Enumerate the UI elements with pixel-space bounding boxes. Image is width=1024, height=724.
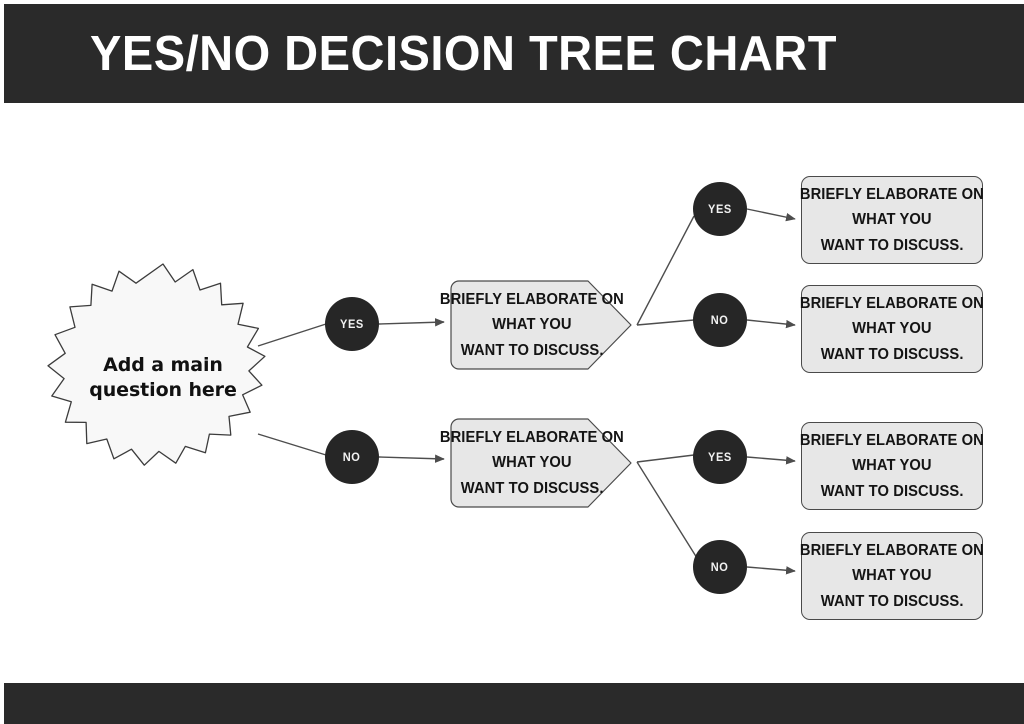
decision-circle-no-yes[interactable]: YES	[693, 430, 747, 484]
decision-circle-label: NO	[711, 313, 729, 327]
outcome-box-yes-yes[interactable]: BRIEFLY ELABORATE ON WHAT YOU WANT TO DI…	[801, 176, 983, 264]
decision-circle-no-no[interactable]: NO	[693, 540, 747, 594]
edge-boxtop-to-no	[637, 320, 694, 325]
decision-circle-yes-yes[interactable]: YES	[693, 182, 747, 236]
decision-circle-yes-no[interactable]: NO	[693, 293, 747, 347]
arrow-box-yes-branch[interactable]: BRIEFLY ELABORATE ON WHAT YOU WANT TO DI…	[450, 280, 632, 370]
box-line-3: WANT TO DISCUSS.	[461, 338, 604, 363]
box-line-2: WHAT YOU	[852, 453, 932, 478]
outcome-box-no-yes[interactable]: BRIEFLY ELABORATE ON WHAT YOU WANT TO DI…	[801, 422, 983, 510]
edge-boxtop-to-yes	[637, 216, 694, 325]
decision-circle-no-level1[interactable]: NO	[325, 430, 379, 484]
box-line-1: BRIEFLY ELABORATE ON	[800, 291, 984, 316]
decision-circle-label: YES	[708, 450, 732, 464]
box-line-2: WHAT YOU	[852, 316, 932, 341]
box-line-2: WHAT YOU	[492, 450, 572, 475]
box-line-3: WANT TO DISCUSS.	[821, 479, 964, 504]
edge-l2nono-to-box	[747, 567, 795, 571]
decision-circle-label: YES	[708, 202, 732, 216]
edge-l2yesno-to-box	[747, 320, 795, 325]
root-question-label: Add a main question here	[45, 260, 281, 496]
edge-no-to-box-bottom	[379, 457, 444, 459]
box-line-2: WHAT YOU	[492, 312, 572, 337]
box-line-3: WANT TO DISCUSS.	[821, 589, 964, 614]
decision-circle-yes-level1[interactable]: YES	[325, 297, 379, 351]
root-label-line1: Add a main	[103, 354, 223, 376]
box-line-1: BRIEFLY ELABORATE ON	[800, 428, 984, 453]
box-line-1: BRIEFLY ELABORATE ON	[440, 425, 624, 450]
box-line-2: WHAT YOU	[852, 563, 932, 588]
root-label-line2: question here	[89, 379, 236, 401]
edge-yes-to-box-top	[379, 322, 444, 324]
arrow-box-no-branch[interactable]: BRIEFLY ELABORATE ON WHAT YOU WANT TO DI…	[450, 418, 632, 508]
edge-l2noyes-to-box	[747, 457, 795, 461]
decision-circle-label: YES	[340, 317, 364, 331]
decision-tree-chart-canvas: YES/NO DECISION TREE CHART	[0, 0, 1024, 724]
root-question-node[interactable]: Add a main question here	[45, 260, 281, 496]
decision-circle-label: NO	[343, 450, 361, 464]
box-line-1: BRIEFLY ELABORATE ON	[800, 538, 984, 563]
arrow-box-text: BRIEFLY ELABORATE ON WHAT YOU WANT TO DI…	[456, 280, 608, 370]
header-band: YES/NO DECISION TREE CHART	[4, 4, 1024, 103]
outcome-box-no-no[interactable]: BRIEFLY ELABORATE ON WHAT YOU WANT TO DI…	[801, 532, 983, 620]
box-line-3: WANT TO DISCUSS.	[461, 476, 604, 501]
page-title: YES/NO DECISION TREE CHART	[90, 26, 837, 82]
box-line-2: WHAT YOU	[852, 207, 932, 232]
edge-boxbottom-to-yes	[637, 455, 694, 462]
outcome-box-yes-no[interactable]: BRIEFLY ELABORATE ON WHAT YOU WANT TO DI…	[801, 285, 983, 373]
edge-l2yesyes-to-box	[747, 209, 795, 219]
box-line-3: WANT TO DISCUSS.	[821, 233, 964, 258]
box-line-3: WANT TO DISCUSS.	[821, 342, 964, 367]
footer-band	[4, 683, 1024, 724]
arrow-box-text: BRIEFLY ELABORATE ON WHAT YOU WANT TO DI…	[456, 418, 608, 508]
box-line-1: BRIEFLY ELABORATE ON	[800, 182, 984, 207]
decision-circle-label: NO	[711, 560, 729, 574]
box-line-1: BRIEFLY ELABORATE ON	[440, 287, 624, 312]
edge-boxbottom-to-no	[637, 462, 697, 558]
